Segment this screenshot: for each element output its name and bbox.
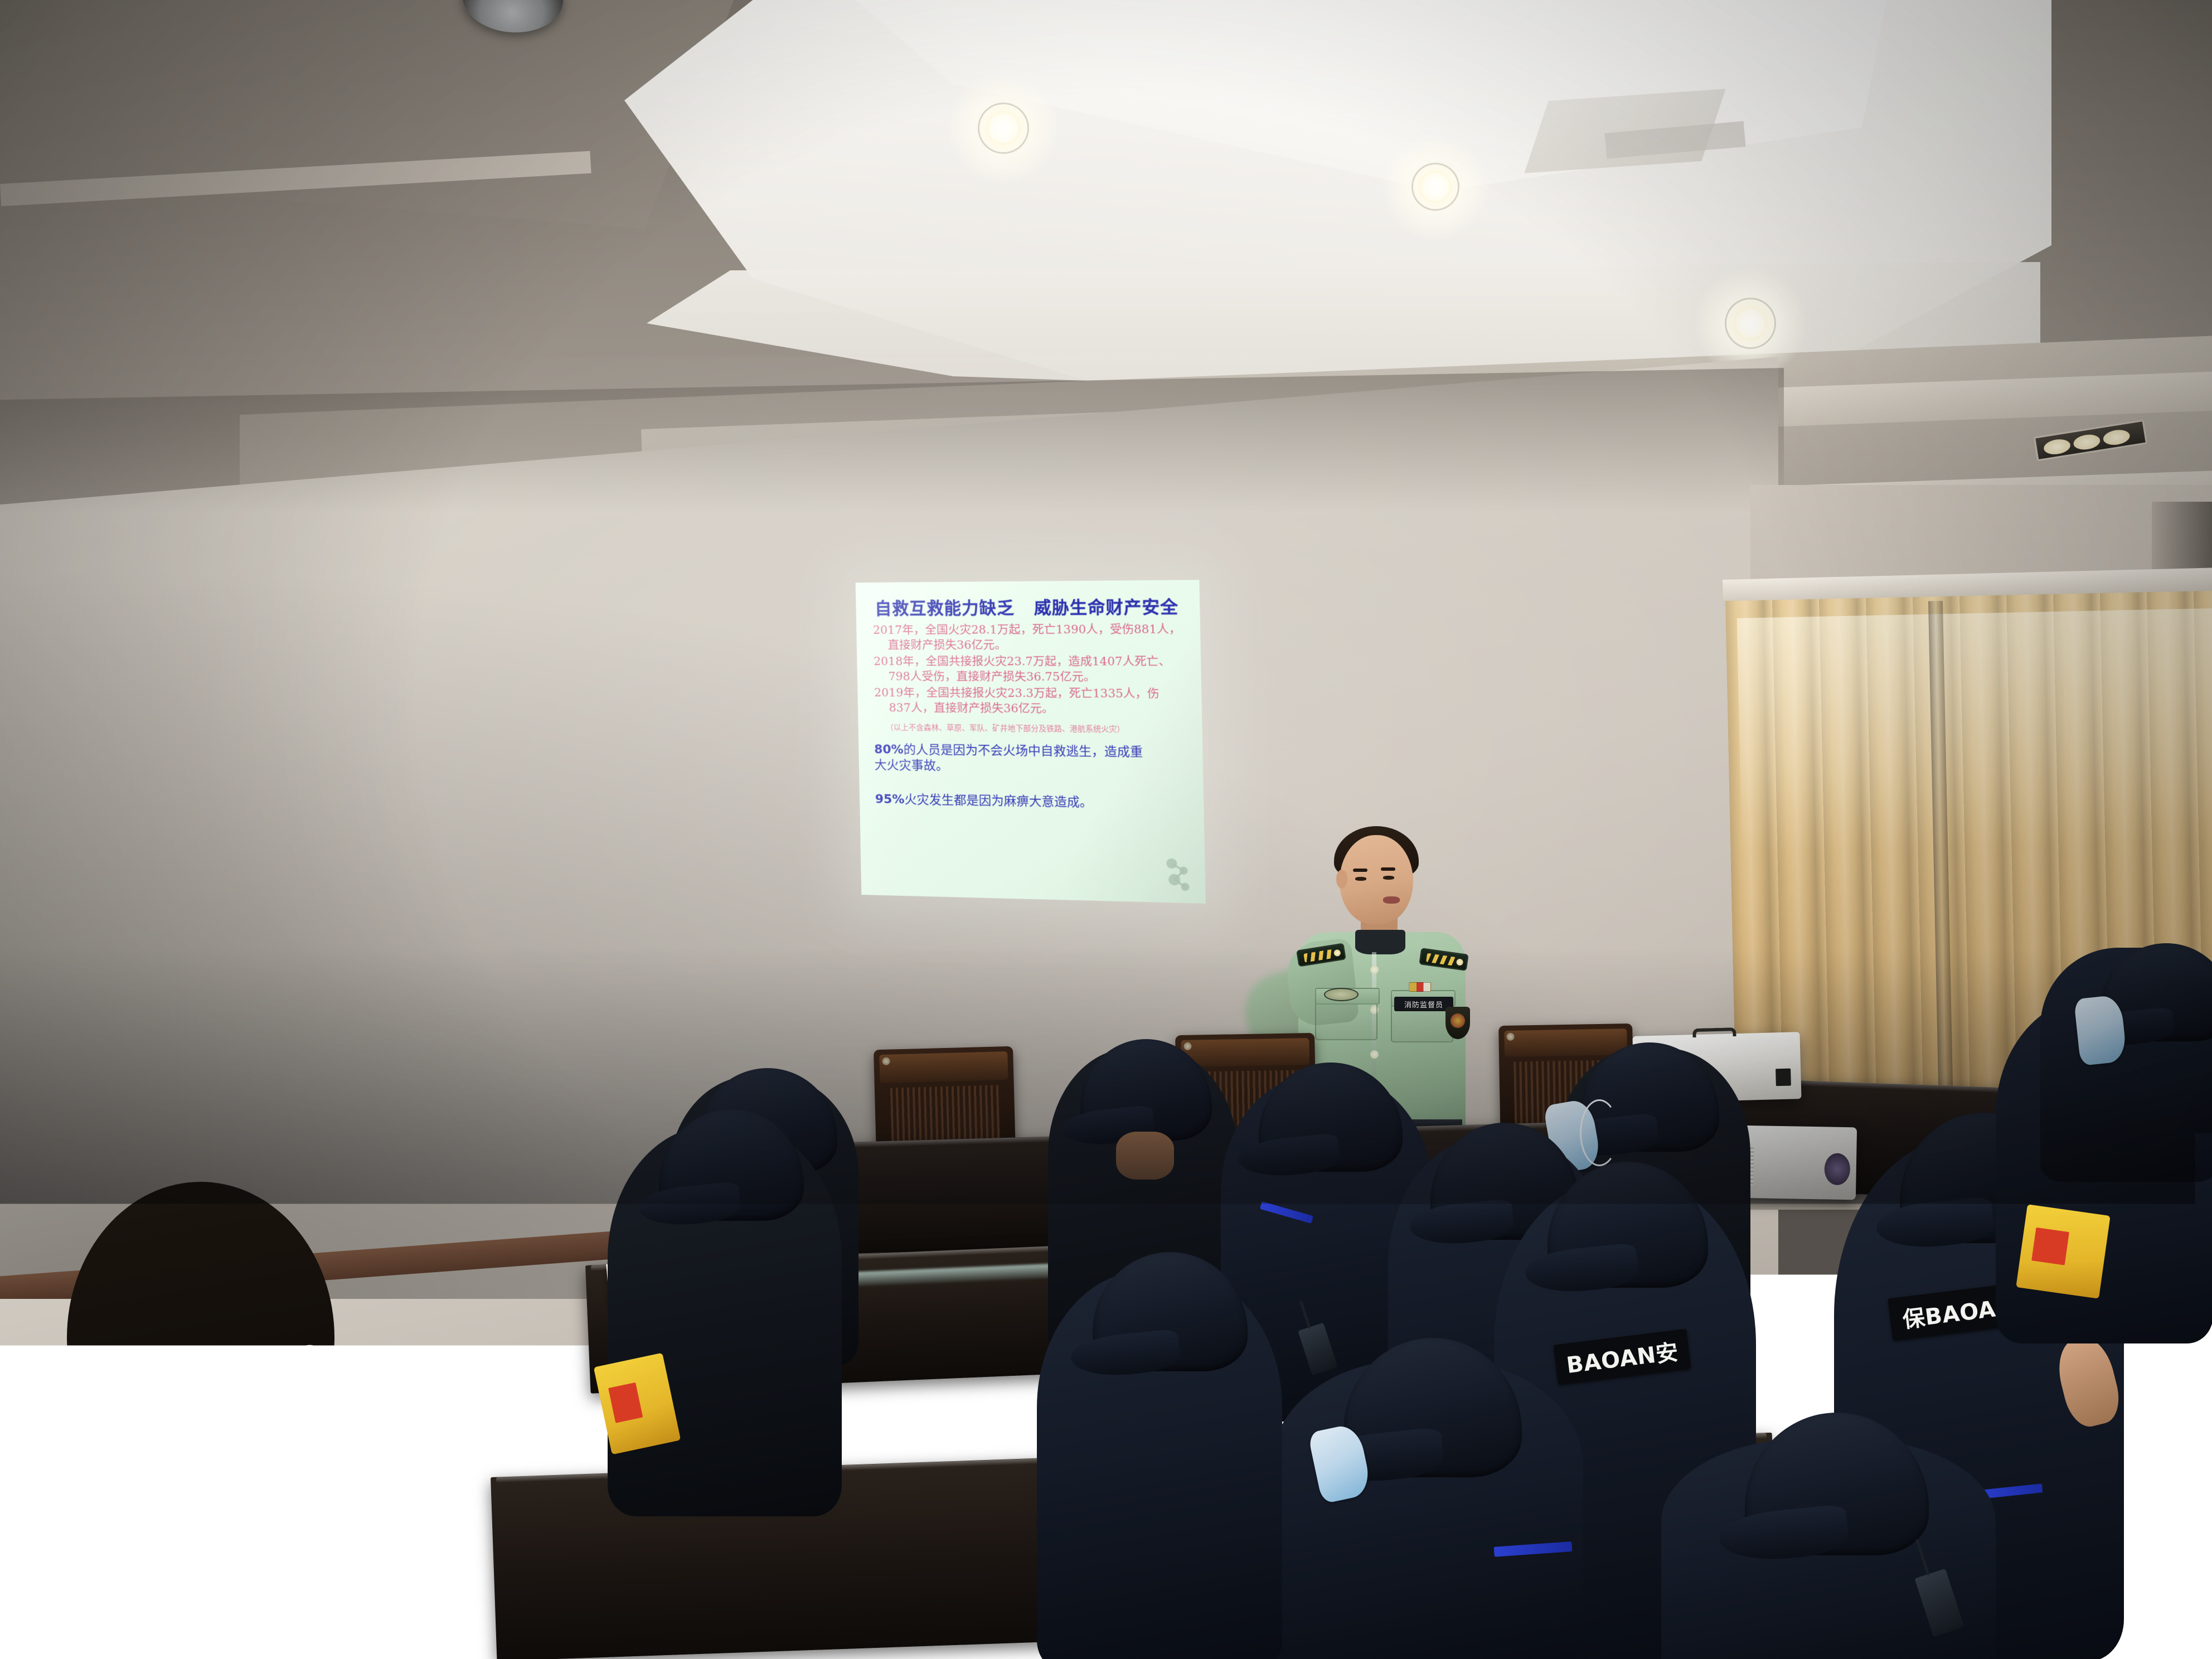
presenter-ear xyxy=(1336,870,1347,889)
slide-stat-2019-line1: 2019年，全国共接报火灾23.3万起，死亡1335人，伤 xyxy=(874,686,1160,700)
audience-member[interactable] xyxy=(1271,1360,1583,1659)
slide-stat-2017-line2: 直接财产损失36亿元。 xyxy=(873,637,1186,653)
ceiling-downlight-icon xyxy=(1382,134,1488,240)
presenter-name-tag-label: 消防监督员 xyxy=(1404,999,1443,1010)
water-bottle[interactable]: 农夫山泉 NONGFU SPRING xyxy=(796,1437,854,1621)
slide-title-left: 自救互救能力缺乏 xyxy=(875,598,1015,619)
projection-screen: 自救互救能力缺乏威胁生命财产安全 2017年，全国火灾28.1万起，死亡1390… xyxy=(856,580,1206,904)
slide-title: 自救互救能力缺乏威胁生命财产安全 xyxy=(875,593,1186,619)
slide-highlight-80: 80%的人员是因为不会火场中自救逃生，造成重 大火灾事故。 xyxy=(874,743,1189,777)
presenter-inner-collar xyxy=(1355,930,1405,954)
slide-stat-2017-line1: 2017年，全国火灾28.1万起，死亡1390人，受伤881人， xyxy=(873,622,1181,637)
audience-cap xyxy=(1080,1039,1212,1141)
bottle-neck xyxy=(812,1463,838,1490)
audience-member[interactable] xyxy=(2040,948,2212,1182)
audience-member[interactable] xyxy=(1037,1271,1282,1659)
slide-highlight-95-line1: 火灾发生都是因为麻痹大意造成。 xyxy=(904,793,1093,810)
audience-neck xyxy=(1116,1132,1174,1180)
audience-cap xyxy=(659,1109,804,1221)
bottle-cap xyxy=(808,1437,842,1465)
presenter-shirt-button xyxy=(1370,1050,1379,1059)
slide-stat-2018: 2018年，全国共接报火灾23.7万起，造成1407人死亡、 798人受伤，直接… xyxy=(874,654,1187,685)
audience-armband xyxy=(2016,1204,2110,1298)
foreground-attendee[interactable] xyxy=(22,1182,424,1659)
meeting-room-scene: 自救互救能力缺乏威胁生命财产安全 2017年，全国火灾28.1万起，死亡1390… xyxy=(0,0,2212,1659)
presenter-face xyxy=(1340,835,1413,924)
slide-watermark-icon xyxy=(1162,856,1194,892)
slide-stat-2018-line1: 2018年，全国共接报火灾23.7万起，造成1407人死亡、 xyxy=(874,654,1171,668)
slide-highlight-95: 95%火灾发生都是因为麻痹大意造成。 xyxy=(875,792,1190,812)
slide-stat-2019-line2: 837人，直接财产损失36亿元。 xyxy=(874,700,1187,717)
slide-stat-2017: 2017年，全国火灾28.1万起，死亡1390人，受伤881人， 直接财产损失3… xyxy=(873,622,1187,653)
slide-highlight-80-line2: 大火灾事故。 xyxy=(874,758,1189,777)
slide-footnote: （以上不含森林、草原、军队、矿井地下部分及铁路、港航系统火灾） xyxy=(886,721,1188,735)
presenter-eyebrow xyxy=(1353,869,1367,872)
presenter-mouth xyxy=(1383,896,1400,904)
presenter-ribbon-badge-icon xyxy=(1409,982,1431,992)
slide-stat-2018-line2: 798人受伤，直接财产损失36.75亿元。 xyxy=(874,669,1187,685)
slide-title-right: 威胁生命财产安全 xyxy=(1034,598,1178,618)
presenter-shirt-button xyxy=(1370,966,1379,974)
presenter-eye xyxy=(1355,877,1366,881)
presenter-eye xyxy=(1383,876,1394,880)
presenter-eyebrow xyxy=(1381,867,1395,871)
bottle-mountain-icon xyxy=(814,1534,837,1553)
slide-highlight-95-percent: 95% xyxy=(875,792,905,807)
audience-cap xyxy=(1259,1063,1403,1172)
presentation-slide: 自救互救能力缺乏威胁生命财产安全 2017年，全国火灾28.1万起，死亡1390… xyxy=(856,580,1206,904)
bottle-brand-cn: 农夫山泉 xyxy=(799,1563,851,1575)
ceiling-downlight-icon xyxy=(948,72,1059,184)
presenter-wing-badge-icon xyxy=(1324,988,1359,1001)
slide-highlight-80-line1: 的人员是因为不会火场中自救逃生，造成重 xyxy=(904,743,1143,760)
audience-member[interactable] xyxy=(1661,1438,1996,1659)
presenter-name-tag: 消防监督员 xyxy=(1394,997,1453,1011)
slide-stat-2019: 2019年，全国共接报火灾23.3万起，死亡1335人，伤 837人，直接财产损… xyxy=(874,685,1188,717)
presenter-arm-patch-icon xyxy=(1445,1007,1470,1039)
bottle-brand-en: NONGFU SPRING xyxy=(799,1574,851,1578)
bottle-label: 农夫山泉 NONGFU SPRING xyxy=(799,1526,851,1591)
slide-highlight-80-percent: 80% xyxy=(874,743,904,758)
